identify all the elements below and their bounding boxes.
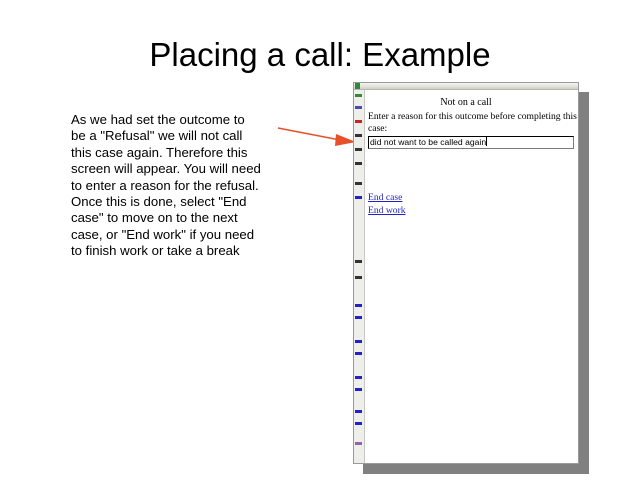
- clipped-content-fragment: [355, 304, 362, 307]
- clipped-content-fragment: [355, 182, 362, 185]
- clipped-content-fragment: [355, 316, 362, 319]
- reason-input-value: did not want to be called again: [370, 137, 486, 147]
- page-title: Placing a call: Example: [0, 36, 640, 74]
- clipped-content-fragment: [355, 162, 362, 165]
- call-outcome-form: Not on a call Enter a reason for this ou…: [366, 91, 579, 464]
- form-heading: Not on a call: [366, 97, 566, 108]
- end-case-link[interactable]: End case: [368, 192, 402, 203]
- embedded-screenshot: Not on a call Enter a reason for this ou…: [353, 82, 579, 464]
- clipped-content-fragment: [355, 352, 362, 355]
- clipped-content-fragment: [355, 410, 362, 413]
- scrollbar-thumb[interactable]: [355, 83, 360, 89]
- clipped-content-fragment: [355, 120, 362, 123]
- clipped-content-fragment: [355, 106, 362, 109]
- red-arrow-icon: [270, 118, 362, 152]
- form-instruction-text: Enter a reason for this outcome before c…: [368, 111, 579, 134]
- clipped-content-fragment: [355, 134, 362, 137]
- clipped-content-fragment: [355, 442, 362, 445]
- clipped-content-fragment: [355, 340, 362, 343]
- clipped-content-fragment: [355, 376, 362, 379]
- end-work-link[interactable]: End work: [368, 205, 406, 216]
- clipped-content-fragment: [355, 94, 362, 97]
- clipped-content-fragment: [355, 388, 362, 391]
- clipped-page-strip: [354, 90, 365, 464]
- clipped-content-fragment: [355, 148, 362, 151]
- reason-input[interactable]: did not want to be called again: [368, 136, 574, 149]
- screenshot-frame: Not on a call Enter a reason for this ou…: [353, 82, 579, 464]
- text-cursor: [486, 137, 487, 146]
- clipped-content-fragment: [355, 260, 362, 263]
- clipped-content-fragment: [355, 422, 362, 425]
- slide-body-text: As we had set the outcome to be a "Refus…: [71, 112, 263, 260]
- clipped-content-fragment: [355, 276, 362, 279]
- clipped-content-fragment: [355, 196, 362, 199]
- horizontal-scrollbar[interactable]: [354, 83, 579, 90]
